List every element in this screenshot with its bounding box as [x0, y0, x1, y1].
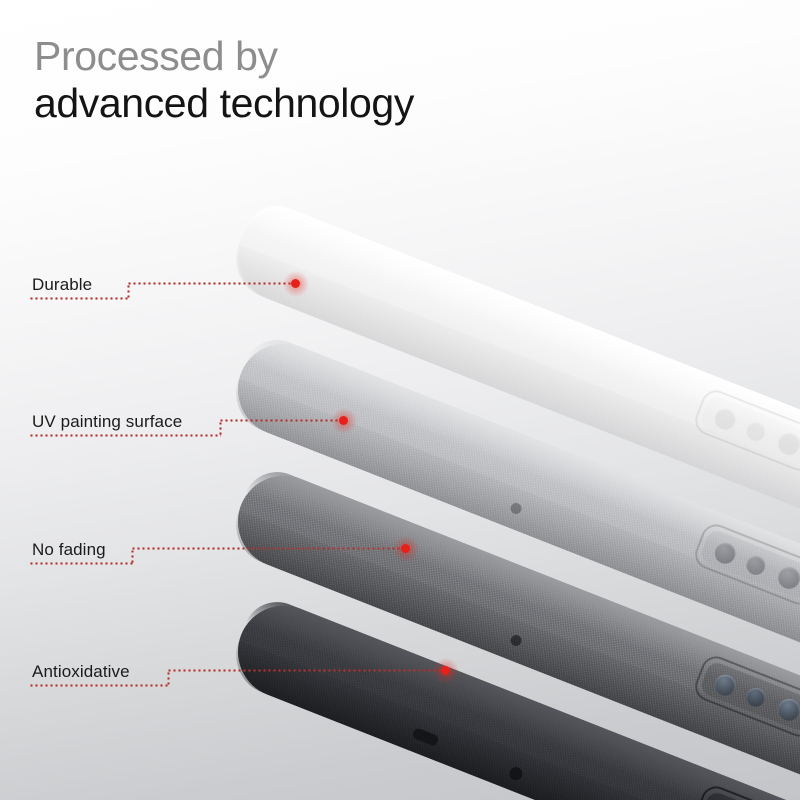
page-title: Processed by advanced technology [34, 36, 414, 125]
callout-underline-no-fading [29, 562, 133, 565]
headline-line-1: Processed by [34, 36, 414, 78]
callout-underline-durable [29, 297, 129, 300]
callout-riser-durable [127, 283, 130, 300]
callout-underline-uv-painting [29, 434, 221, 437]
callout-label-uv-painting: UV painting surface [32, 412, 182, 432]
callout-leader-durable [127, 282, 295, 285]
callout-marker-no-fading [401, 544, 410, 553]
callout-leader-uv-painting [219, 419, 343, 422]
callout-riser-antioxidative [167, 670, 170, 687]
callout-leader-no-fading [131, 547, 405, 550]
callout-underline-antioxidative [29, 684, 169, 687]
callout-marker-uv-painting [339, 416, 348, 425]
headline-line-2: advanced technology [34, 83, 414, 125]
callout-riser-no-fading [131, 548, 134, 565]
callout-riser-uv-painting [219, 420, 222, 437]
callout-marker-antioxidative [441, 666, 450, 675]
callout-label-no-fading: No fading [32, 540, 106, 560]
callout-marker-durable [291, 279, 300, 288]
callout-label-antioxidative: Antioxidative [32, 662, 130, 682]
infographic-canvas: Processed by advanced technology Durable… [0, 0, 800, 800]
callout-label-durable: Durable [32, 275, 92, 295]
callout-leader-antioxidative [167, 669, 445, 672]
